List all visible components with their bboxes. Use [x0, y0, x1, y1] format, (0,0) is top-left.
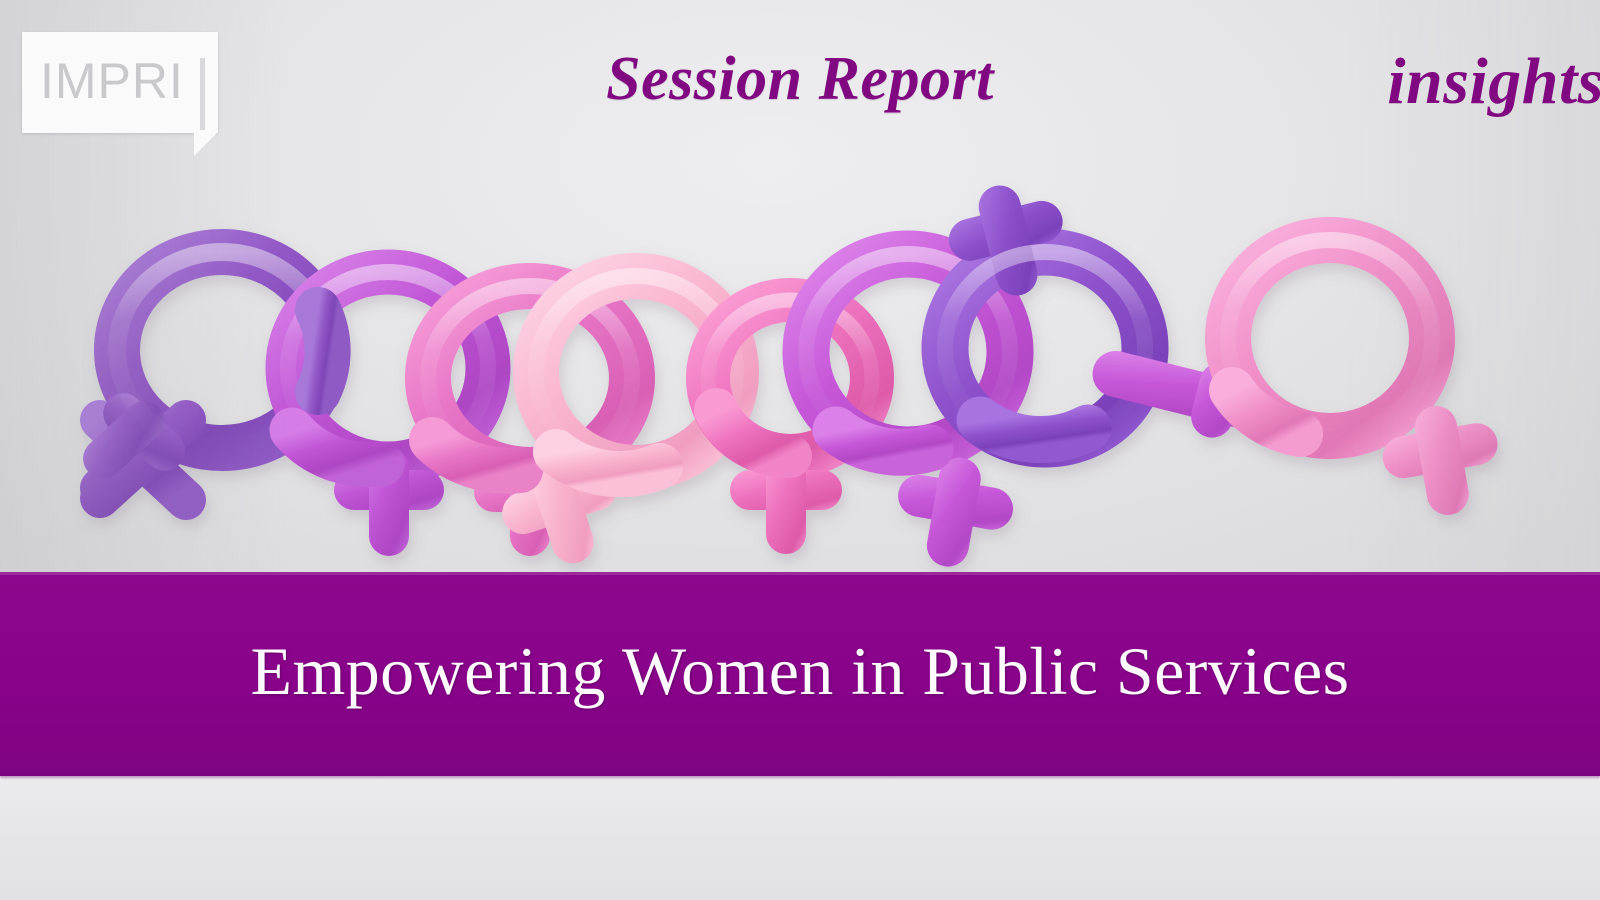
background-lower [0, 776, 1600, 900]
session-report-label: Session Report [0, 44, 1600, 115]
title-banner: Empowering Women in Public Services [0, 572, 1600, 776]
page-title: Empowering Women in Public Services [0, 572, 1600, 776]
logo-tail-notch [194, 132, 218, 156]
insights-wordmark: insights [1387, 44, 1600, 120]
session-report-poster: IMPRI Session Report insights Empowering… [0, 0, 1600, 900]
